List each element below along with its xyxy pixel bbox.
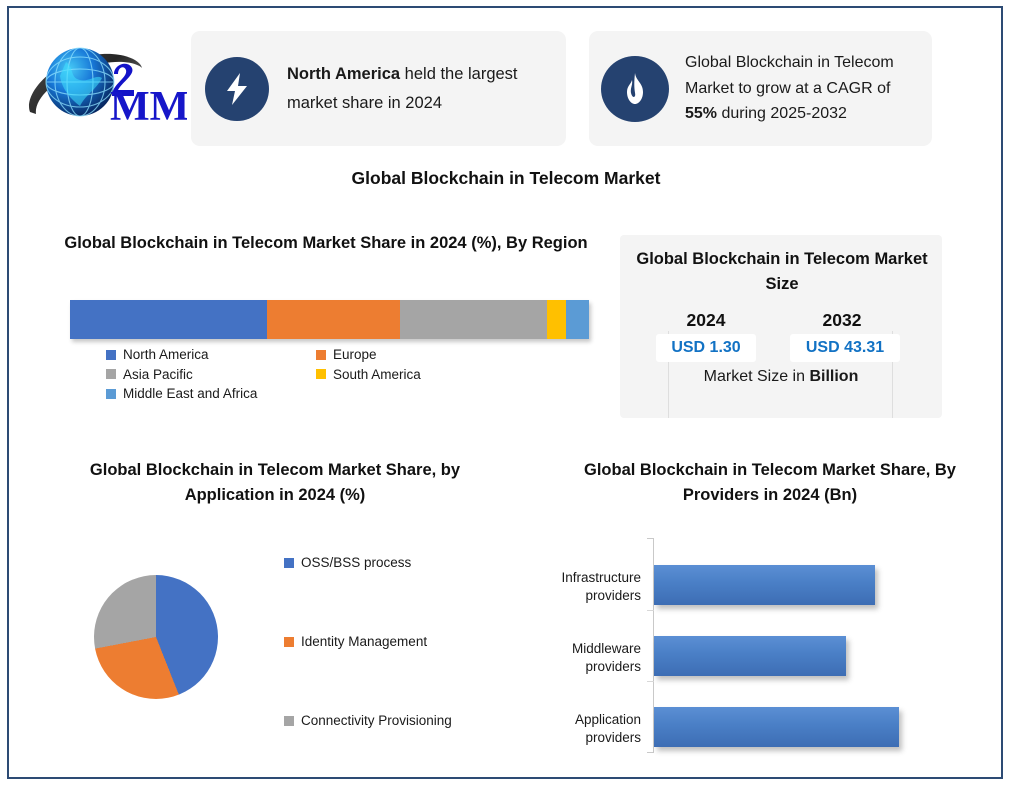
legend-label: Connectivity Provisioning (301, 713, 452, 728)
market-size-year-2032: 2032 (784, 310, 900, 331)
region-segment (267, 300, 399, 339)
legend-label: Europe (333, 347, 377, 362)
region-segment (566, 300, 589, 339)
legend-swatch (284, 637, 294, 647)
market-size-footer-unit: Billion (809, 368, 858, 385)
legend-item-europe: Europe (316, 345, 526, 365)
axis-tick-2 (647, 681, 654, 682)
providers-category-label: Middleware providers (520, 640, 641, 676)
banner-text-north-america: North America held the largest market sh… (269, 60, 566, 117)
mmr-logo: MMR (22, 38, 187, 126)
legend-item-south-america: South America (316, 365, 526, 385)
providers-bar (654, 707, 899, 747)
infographic-page: MMR North America held the largest marke… (0, 0, 1012, 786)
axis-tick-1 (647, 610, 654, 611)
banner-2-bold: 55% (685, 105, 717, 122)
providers-category-label: Infrastructure providers (520, 569, 641, 605)
logo-text: MMR (110, 84, 187, 126)
market-size-value-2032: USD 43.31 (790, 334, 900, 362)
banner-2-post: during 2025-2032 (717, 105, 847, 122)
legend-item-connectivity-provisioning: Connectivity Provisioning (284, 713, 452, 728)
legend-label: South America (333, 367, 421, 382)
banner-card-north-america: North America held the largest market sh… (191, 31, 566, 146)
legend-swatch (284, 558, 294, 568)
banner-1-bold: North America (287, 65, 400, 83)
region-segment (400, 300, 548, 339)
axis-cap-bottom (647, 752, 654, 753)
banner-card-cagr: Global Blockchain in Telecom Market to g… (589, 31, 932, 146)
bolt-icon (205, 57, 269, 121)
region-stacked-bar (70, 300, 589, 339)
legend-swatch (284, 716, 294, 726)
market-size-year-2024: 2024 (648, 310, 764, 331)
legend-label: Middle East and Africa (123, 386, 257, 401)
flame-icon (601, 56, 669, 122)
market-size-footer: Market Size in Billion (620, 368, 942, 386)
providers-category-label: Application providers (520, 711, 641, 747)
providers-bar (654, 565, 875, 605)
legend-item-asia-pacific: Asia Pacific (106, 365, 316, 385)
region-legend: North AmericaEuropeAsia PacificSouth Ame… (106, 345, 526, 404)
application-pie-chart (94, 575, 218, 699)
banner-text-cagr: Global Blockchain in Telecom Market to g… (669, 50, 932, 128)
providers-chart-title: Global Blockchain in Telecom Market Shar… (560, 458, 980, 508)
banner-2-pre: Global Blockchain in Telecom Market to g… (685, 54, 894, 97)
legend-label: North America (123, 347, 209, 362)
legend-swatch (106, 369, 116, 379)
region-segment (547, 300, 565, 339)
legend-item-oss-bss: OSS/BSS process (284, 555, 411, 570)
page-title: Global Blockchain in Telecom Market (0, 168, 1012, 189)
legend-label: Asia Pacific (123, 367, 193, 382)
legend-item-middle-east-and-africa: Middle East and Africa (106, 384, 316, 404)
market-size-title: Global Blockchain in Telecom Market Size (636, 247, 928, 297)
axis-cap-top (647, 538, 654, 539)
market-size-footer-pre: Market Size in (704, 368, 810, 385)
application-chart-title: Global Blockchain in Telecom Market Shar… (60, 458, 490, 508)
legend-item-north-america: North America (106, 345, 316, 365)
legend-item-identity-management: Identity Management (284, 634, 427, 649)
legend-label: OSS/BSS process (301, 555, 411, 570)
legend-swatch (316, 369, 326, 379)
region-segment (70, 300, 267, 339)
market-size-value-2024: USD 1.30 (656, 334, 756, 362)
legend-label: Identity Management (301, 634, 427, 649)
providers-bar-chart: Infrastructure providersMiddleware provi… (520, 535, 960, 760)
legend-swatch (106, 389, 116, 399)
legend-swatch (106, 350, 116, 360)
providers-bar (654, 636, 846, 676)
region-chart-title: Global Blockchain in Telecom Market Shar… (56, 231, 596, 256)
legend-swatch (316, 350, 326, 360)
